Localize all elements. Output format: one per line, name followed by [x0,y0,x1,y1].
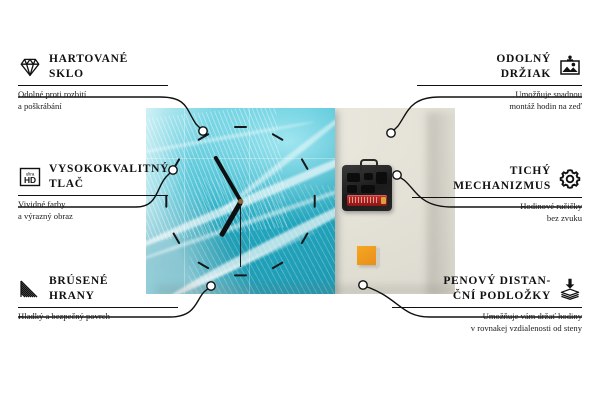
callout-divider [18,307,178,308]
callout-desc-line: Umožňuje vám držať hodiny [392,311,582,323]
picture-hanger-icon [558,55,582,79]
callout-divider [417,85,582,86]
feature-callout-hq-print: ultra HD VYSOKOKVALITNÝ TLAČ Vividné far… [18,162,168,223]
callout-divider [18,195,168,196]
brushed-edges-icon [18,277,42,301]
callout-header: TICHÝ MECHANIZMUS [412,164,582,194]
callout-desc-line: Odolné proti rozbití [18,89,168,101]
mechanism-slot [364,173,373,180]
clock-center-pin [238,199,243,204]
hour-marker [313,194,315,207]
callout-header: HARTOVANÉ SKLO [18,52,168,82]
feature-callout-foam-spacers: PENOVÝ DISTAN- ČNÍ PODLOŽKY Umožňuje vám… [392,274,582,335]
callout-desc-line: Vividné farby [18,199,168,211]
ultra-hd-icon: ultra HD [18,165,42,189]
square-wall-clock [146,108,335,294]
feature-callout-durable-hanger: ODOLNÝ DRŽIAK Umožňuje snadnou montáž ho… [417,52,582,113]
callout-desc-line: Hodinové ručičky [412,201,582,213]
second-hand [240,201,242,267]
foam-pad-edge [376,247,380,269]
svg-text:HD: HD [24,175,36,185]
foam-spacer-pad [357,246,376,265]
callout-desc-line: montáž hodin na zeď [417,101,582,113]
callout-header: ODOLNÝ DRŽIAK [417,52,582,82]
battery-terminal [381,197,386,204]
mechanism-slot [347,173,360,182]
feature-callout-polished-edges: BRÚSENÉ HRANY Hladký a bezpečný povrch [18,274,178,323]
hanger-hook-icon [360,159,378,171]
callout-desc-line: v rovnakej vzdialenosti od steny [392,323,582,335]
callout-divider [18,85,168,86]
callout-title: HARTOVANÉ SKLO [49,52,128,82]
hour-marker [234,274,247,276]
battery-label [349,197,379,203]
callout-title: TICHÝ MECHANIZMUS [453,164,551,194]
diamond-icon [18,55,42,79]
callout-header: BRÚSENÉ HRANY [18,274,178,304]
mechanism-slot [347,185,357,193]
callout-header: PENOVÝ DISTAN- ČNÍ PODLOŽKY [392,274,582,304]
callout-title: ODOLNÝ DRŽIAK [496,52,551,82]
callout-desc-line: Hladký a bezpečný povrch [18,311,178,323]
infographic-canvas: HARTOVANÉ SKLO Odolné proti rozbití a po… [0,0,600,400]
battery [347,195,387,206]
callout-title: VYSOKOKVALITNÝ TLAČ [49,162,169,192]
mechanism-slot [376,172,387,184]
callout-title: PENOVÝ DISTAN- ČNÍ PODLOŽKY [443,274,551,304]
callout-divider [412,197,582,198]
callout-desc-line: Umožňuje snadnou [417,89,582,101]
gear-icon [558,167,582,191]
clock-mechanism [342,165,392,211]
feature-callout-silent-mechanism: TICHÝ MECHANIZMUS Hodinové ručičky bez z… [412,164,582,225]
callout-desc-line: a výrazný obraz [18,211,168,223]
product-photo [146,108,455,294]
callout-header: ultra HD VYSOKOKVALITNÝ TLAČ [18,162,168,192]
mechanism-slot [361,185,375,193]
callout-divider [392,307,582,308]
feature-callout-hardened-glass: HARTOVANÉ SKLO Odolné proti rozbití a po… [18,52,168,113]
callout-desc-line: a poškrábání [18,101,168,113]
foam-spacer-icon [558,277,582,301]
callout-desc-line: bez zvuku [412,213,582,225]
callout-title: BRÚSENÉ HRANY [49,274,108,304]
